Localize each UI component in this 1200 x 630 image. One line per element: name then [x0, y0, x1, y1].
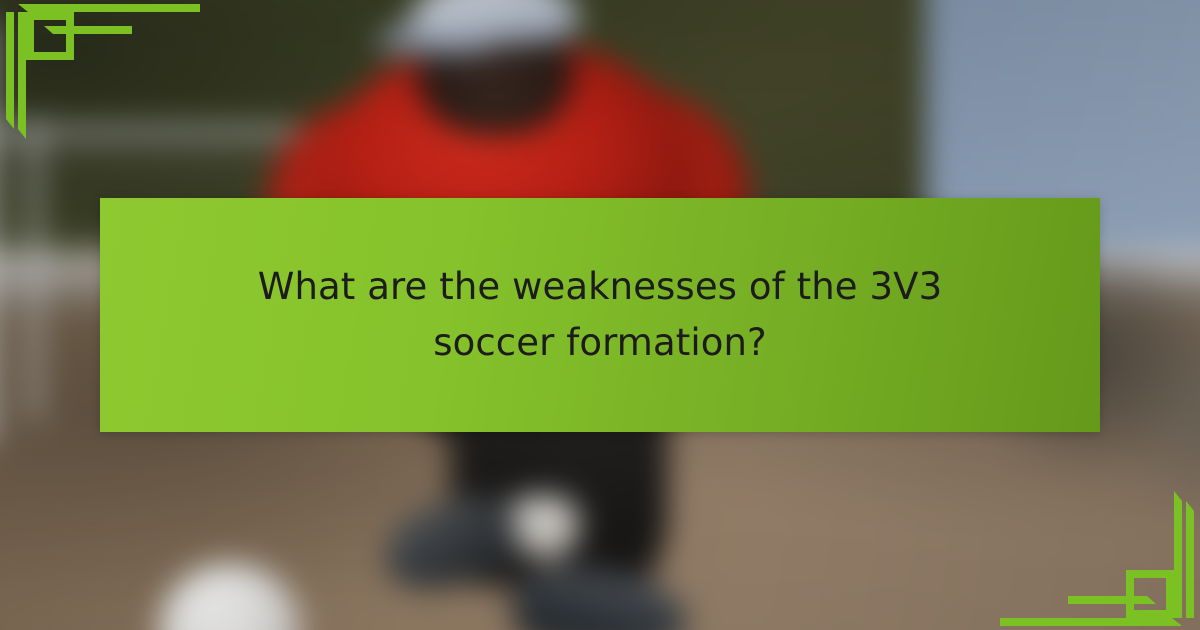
- question-banner: What are the weaknesses of the 3V3 socce…: [100, 198, 1100, 432]
- ornament-short-vertical-bar: [1174, 491, 1182, 618]
- question-text: What are the weaknesses of the 3V3 socce…: [220, 259, 980, 371]
- corner-ornament-top-left: [0, 0, 240, 150]
- ornament-long-vertical-bar: [1186, 501, 1194, 618]
- ornament-connector-bar: [58, 26, 74, 34]
- ornament-open-square: [26, 12, 74, 60]
- corner-ornament-bottom-right: [960, 480, 1200, 630]
- ornament-long-horizontal-bar: [18, 4, 200, 12]
- ornament-connector-bar: [1126, 596, 1142, 604]
- ornament-short-vertical-bar: [18, 12, 26, 139]
- ornament-long-horizontal-bar: [1000, 618, 1182, 626]
- ornament-open-square: [1126, 570, 1174, 618]
- ornament-long-vertical-bar: [6, 12, 14, 129]
- question-card: What are the weaknesses of the 3V3 socce…: [0, 0, 1200, 630]
